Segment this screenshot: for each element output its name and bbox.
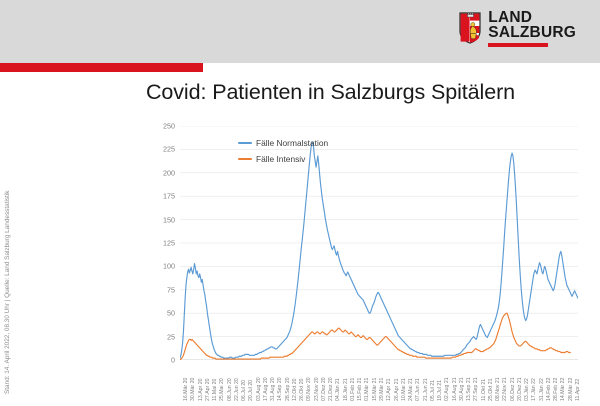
x-tick-label: 27.Apr 20 [205, 361, 211, 401]
x-tick-label: 28.Sep 20 [285, 361, 291, 401]
x-tick-label: 08.Nov 21 [495, 361, 501, 401]
legend-label: Fälle Normalstation [256, 138, 328, 148]
x-tick-label: 12.Apr 21 [386, 361, 392, 401]
legend-label: Fälle Intensiv [256, 154, 305, 164]
red-accent-bar [0, 63, 203, 72]
x-tick-label: 07.Jun 21 [415, 361, 421, 401]
x-tick-label: 19.Jul 21 [437, 361, 443, 401]
y-tick-label: 200 [163, 168, 175, 177]
x-tick-label: 12.Okt 20 [292, 361, 298, 401]
y-tick-label: 175 [163, 192, 175, 201]
x-tick-label: 21.Dez 20 [328, 361, 334, 401]
x-tick-label: 28.Feb 22 [553, 361, 559, 401]
x-tick-label: 26.Apr 21 [394, 361, 400, 401]
x-tick-label: 03.Aug 20 [256, 361, 262, 401]
x-tick-label: 25.Mai 20 [219, 361, 225, 401]
x-tick-label: 06.Jul 20 [241, 361, 247, 401]
x-tick-label: 13.Apr 20 [198, 361, 204, 401]
x-tick-label: 26.Okt 20 [299, 361, 305, 401]
x-tick-label: 16.Mär 20 [183, 361, 189, 401]
y-tick-label: 225 [163, 145, 175, 154]
x-tick-label: 31.Aug 20 [270, 361, 276, 401]
legend-item-0[interactable]: Fälle Normalstation [238, 138, 328, 148]
x-tick-label: 13.Sep 21 [466, 361, 472, 401]
x-tick-label: 17.Aug 20 [263, 361, 269, 401]
logo-line-land: LAND [488, 10, 532, 25]
x-tick-label: 15.Feb 21 [357, 361, 363, 401]
x-tick-label: 01.Mär 21 [364, 361, 370, 401]
covid-patients-chart: 0255075100125150175200225250 Fälle Norma… [150, 118, 588, 396]
x-tick-label: 14.Feb 22 [546, 361, 552, 401]
y-tick-label: 125 [163, 239, 175, 248]
y-tick-label: 50 [167, 309, 175, 318]
x-tick-label: 28.Mär 22 [568, 361, 574, 401]
x-tick-label: 24.Mai 21 [408, 361, 414, 401]
x-tick-label: 09.Nov 20 [306, 361, 312, 401]
x-tick-label: 23.Nov 20 [314, 361, 320, 401]
x-axis: 16.Mär 2030.Mär 2013.Apr 2027.Apr 2011.M… [180, 361, 578, 406]
x-tick-label: 31.Jän 22 [539, 361, 545, 401]
y-tick-label: 250 [163, 122, 175, 131]
x-tick-label: 08.Jun 20 [227, 361, 233, 401]
x-tick-label: 29.Mär 21 [379, 361, 385, 401]
x-tick-label: 27.Sep 21 [473, 361, 479, 401]
x-tick-label: 03.Jän 22 [524, 361, 530, 401]
y-tick-label: 100 [163, 262, 175, 271]
x-tick-label: 18.Jän 21 [343, 361, 349, 401]
plot-area: Fälle NormalstationFälle Intensiv [180, 126, 578, 360]
legend-swatch-icon [238, 142, 252, 144]
x-tick-label: 22.Jun 20 [234, 361, 240, 401]
x-tick-label: 04.Jän 21 [335, 361, 341, 401]
logo-line-salzburg: SALZBURG [488, 25, 576, 40]
x-tick-label: 07.Dez 20 [321, 361, 327, 401]
x-tick-label: 15.Mär 21 [372, 361, 378, 401]
x-tick-label: 01.Feb 21 [350, 361, 356, 401]
x-tick-label: 02.Aug 21 [444, 361, 450, 401]
x-tick-label: 14.Sep 20 [277, 361, 283, 401]
logo-underline [488, 43, 548, 46]
x-tick-label: 30.Mär 20 [190, 361, 196, 401]
y-tick-label: 150 [163, 215, 175, 224]
legend-item-1[interactable]: Fälle Intensiv [238, 154, 328, 164]
x-tick-label: 17.Jän 22 [531, 361, 537, 401]
y-tick-label: 25 [167, 332, 175, 341]
x-tick-label: 06.Dez 21 [510, 361, 516, 401]
y-tick-label: 75 [167, 285, 175, 294]
x-tick-label: 11.Apr 22 [575, 361, 581, 401]
x-tick-label: 11.Okt 21 [481, 361, 487, 401]
page-title: Covid: Patienten in Salzburgs Spitälern [146, 80, 586, 105]
source-note: Stand: 14. April 2022, 08.30 Uhr | Quell… [0, 0, 14, 400]
logo-wordmark: LAND SALZBURG [488, 10, 576, 47]
x-tick-label: 21.Jun 21 [423, 361, 429, 401]
x-tick-label: 20.Jul 20 [248, 361, 254, 401]
land-salzburg-logo: LAND SALZBURG [459, 10, 576, 47]
legend-swatch-icon [238, 158, 252, 160]
x-tick-label: 20.Dez 21 [517, 361, 523, 401]
y-axis: 0255075100125150175200225250 [150, 126, 177, 360]
x-tick-label: 11.Mai 20 [212, 361, 218, 401]
salzburg-coat-of-arms-icon [459, 12, 481, 44]
x-tick-label: 16.Aug 21 [452, 361, 458, 401]
x-tick-label: 30.Aug 21 [459, 361, 465, 401]
y-tick-label: 0 [171, 356, 175, 365]
x-tick-label: 25.Okt 21 [488, 361, 494, 401]
x-tick-label: 22.Nov 21 [502, 361, 508, 401]
x-tick-label: 14.Mär 22 [560, 361, 566, 401]
chart-legend: Fälle NormalstationFälle Intensiv [238, 138, 328, 164]
x-tick-label: 10.Mai 21 [401, 361, 407, 401]
x-tick-label: 05.Jul 21 [430, 361, 436, 401]
series-line-0 [180, 142, 578, 358]
